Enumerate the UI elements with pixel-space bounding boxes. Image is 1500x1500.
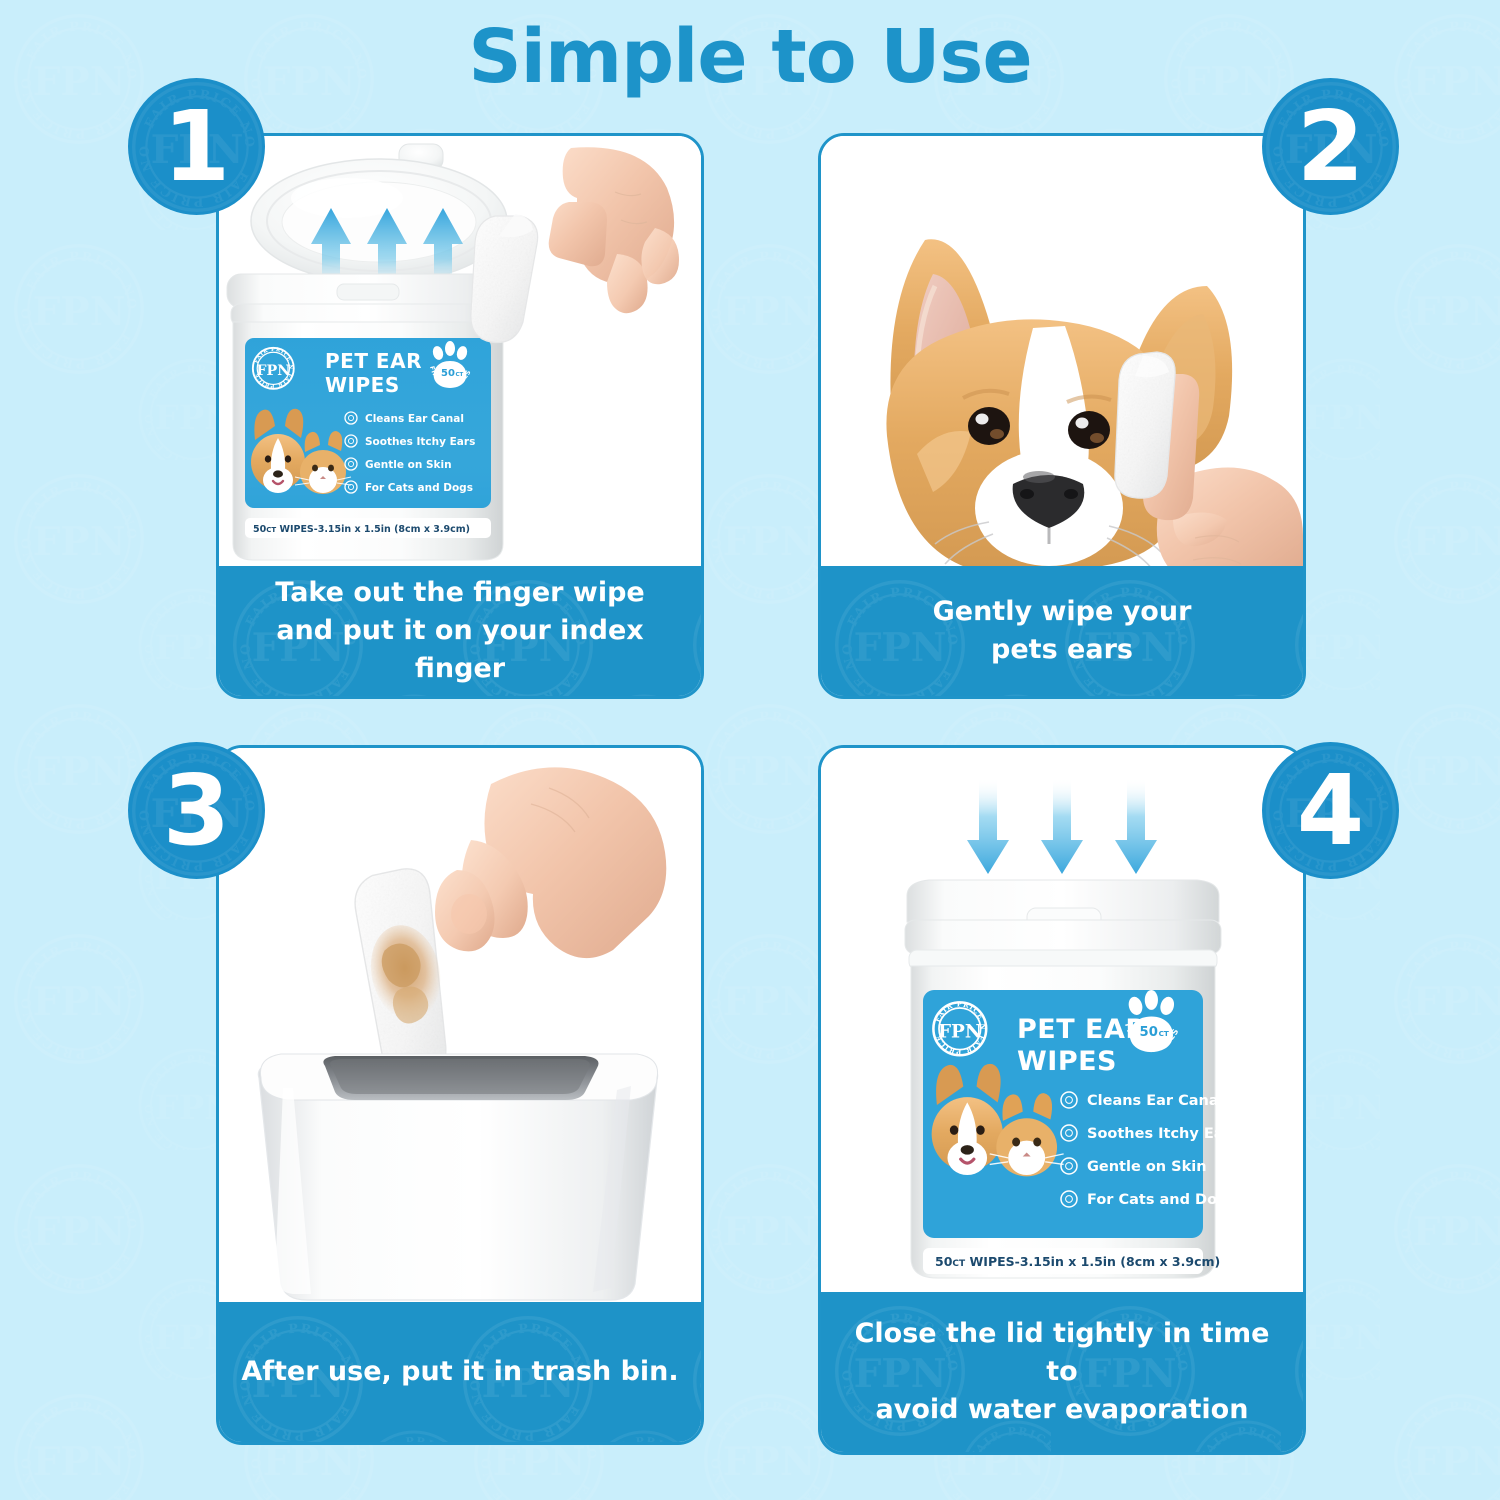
step-number-1: 1 <box>163 98 231 195</box>
step-number-4: 4 <box>1297 762 1365 859</box>
trash-bin <box>258 1054 657 1300</box>
downward-arrows <box>967 778 1157 874</box>
svg-text:Gentle on Skin: Gentle on Skin <box>365 459 452 471</box>
step-number-badge-3: 3 <box>128 742 265 879</box>
svg-text:50CT WIPES-3.15in x 1.5in (8cm: 50CT WIPES-3.15in x 1.5in (8cm x 3.9cm) <box>253 524 470 535</box>
step-2-caption-line-2: pets ears <box>933 631 1192 669</box>
step-3-caption-line-1: After use, put it in trash bin. <box>241 1353 678 1391</box>
step-3-illustration <box>219 748 701 1308</box>
svg-text:Soothes Itchy Ears: Soothes Itchy Ears <box>1087 1126 1239 1142</box>
step-number-2: 2 <box>1297 98 1365 195</box>
product-label: FPN FAIR PRICE NOW FAIR PRICE NOW PET EA… <box>923 990 1239 1274</box>
svg-text:50: 50 <box>1140 1025 1158 1040</box>
svg-text:50CT WIPES-3.15in x 1.5in (8cm: 50CT WIPES-3.15in x 1.5in (8cm x 3.9cm) <box>935 1254 1220 1269</box>
step-3-caption: After use, put it in trash bin. <box>219 1302 701 1442</box>
step-card-1: FPN FAIR PRICE NOW FAIR PRICE NOW PET EA… <box>216 133 704 699</box>
discard-wipe-scene <box>219 748 701 1308</box>
step-2-caption: Gently wipe your pets ears <box>821 566 1303 696</box>
step-number-badge-4: 4 <box>1262 742 1399 879</box>
closed-jar-scene: FPN FAIR PRICE NOW FAIR PRICE NOW PET EA… <box>821 748 1303 1298</box>
step-1-caption-line-2: and put it on your index finger <box>237 612 683 689</box>
svg-text:For Cats and Dogs: For Cats and Dogs <box>365 482 473 494</box>
step-card-2: Gently wipe your pets ears <box>818 133 1306 699</box>
svg-text:50: 50 <box>441 368 455 379</box>
open-jar-scene: FPN FAIR PRICE NOW FAIR PRICE NOW PET EA… <box>219 136 701 569</box>
svg-text:WIPES: WIPES <box>1017 1046 1117 1077</box>
step-4-illustration: FPN FAIR PRICE NOW FAIR PRICE NOW PET EA… <box>821 748 1303 1298</box>
step-2-caption-line-1: Gently wipe your <box>933 593 1192 631</box>
svg-text:Soothes Itchy Ears: Soothes Itchy Ears <box>365 436 475 448</box>
step-number-badge-1: 1 <box>128 78 265 215</box>
step-number-3: 3 <box>163 762 231 859</box>
step-4-caption: Close the lid tightly in time to avoid w… <box>821 1292 1303 1452</box>
step-2-illustration <box>821 136 1303 569</box>
step-card-3: After use, put it in trash bin. <box>216 745 704 1445</box>
step-4-caption-line-1: Close the lid tightly in time to <box>839 1315 1285 1392</box>
product-label: FPN FAIR PRICE NOW FAIR PRICE NOW PET EA… <box>245 338 491 538</box>
step-card-4: FPN FAIR PRICE NOW FAIR PRICE NOW PET EA… <box>818 745 1306 1455</box>
step-4-caption-line-2: avoid water evaporation <box>839 1391 1285 1429</box>
step-number-badge-2: 2 <box>1262 78 1399 215</box>
svg-text:For Cats and Dogs: For Cats and Dogs <box>1087 1192 1236 1208</box>
svg-text:PET EAR: PET EAR <box>325 349 422 373</box>
step-1-illustration: FPN FAIR PRICE NOW FAIR PRICE NOW PET EA… <box>219 136 701 569</box>
corgi-ear-wipe-scene <box>821 136 1303 569</box>
step-1-caption: Take out the finger wipe and put it on y… <box>219 566 701 696</box>
svg-text:Cleans Ear Canal: Cleans Ear Canal <box>365 413 464 425</box>
svg-text:Cleans Ear Canal: Cleans Ear Canal <box>1087 1093 1224 1109</box>
svg-text:WIPES: WIPES <box>325 373 400 397</box>
svg-text:FPN: FPN <box>938 1022 982 1043</box>
svg-text:Gentle on Skin: Gentle on Skin <box>1087 1159 1207 1175</box>
step-1-caption-line-1: Take out the finger wipe <box>237 574 683 612</box>
